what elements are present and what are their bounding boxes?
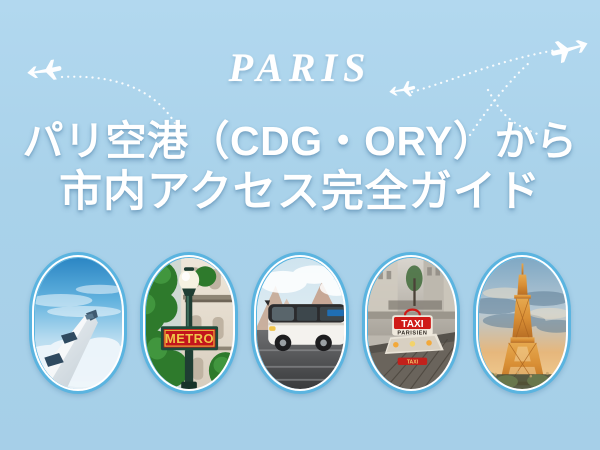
thumbnail-metro-sign[interactable]: METRO paris-metro-sign-lamppost: [140, 252, 238, 394]
eyebrow-paris: PARIS: [0, 44, 600, 91]
metro-sign-board: METRO: [160, 326, 217, 350]
svg-text:TAXI: TAXI: [406, 359, 418, 365]
page-title: パリ空港（CDG・ORY）から 市内アクセス完全ガイド: [0, 116, 600, 218]
page-title-line-1: パリ空港（CDG・ORY）から: [0, 116, 600, 167]
photo-city-bus: [257, 258, 344, 389]
thumbnail-city-bus[interactable]: white-city-bus-on-road: [251, 252, 349, 394]
svg-text:TAXI: TAXI: [401, 319, 423, 330]
thumbnail-strip: airplane-wing-above-clouds: [0, 252, 600, 394]
banner-canvas: PARIS パリ空港（CDG・ORY）から 市内アクセス完全ガイド: [0, 0, 600, 450]
bus-body: [264, 300, 343, 351]
svg-text:PARISIEN: PARISIEN: [397, 330, 427, 336]
thumbnail-paris-taxi[interactable]: TAXI PARISIEN TAXI taxi-parisien-roof-si…: [362, 252, 460, 394]
thumbnail-eiffel-tower[interactable]: eiffel-tower-at-sunset: [473, 252, 571, 394]
photo-eiffel-tower: [479, 258, 566, 389]
svg-text:METRO: METRO: [165, 330, 214, 345]
page-title-line-2: 市内アクセス完全ガイド: [0, 167, 600, 218]
photo-metro-sign: METRO: [146, 258, 233, 389]
thumbnail-airplane-wing[interactable]: airplane-wing-above-clouds: [29, 252, 127, 394]
photo-paris-taxi: TAXI PARISIEN TAXI: [368, 258, 455, 389]
photo-airplane-wing: [35, 258, 122, 389]
